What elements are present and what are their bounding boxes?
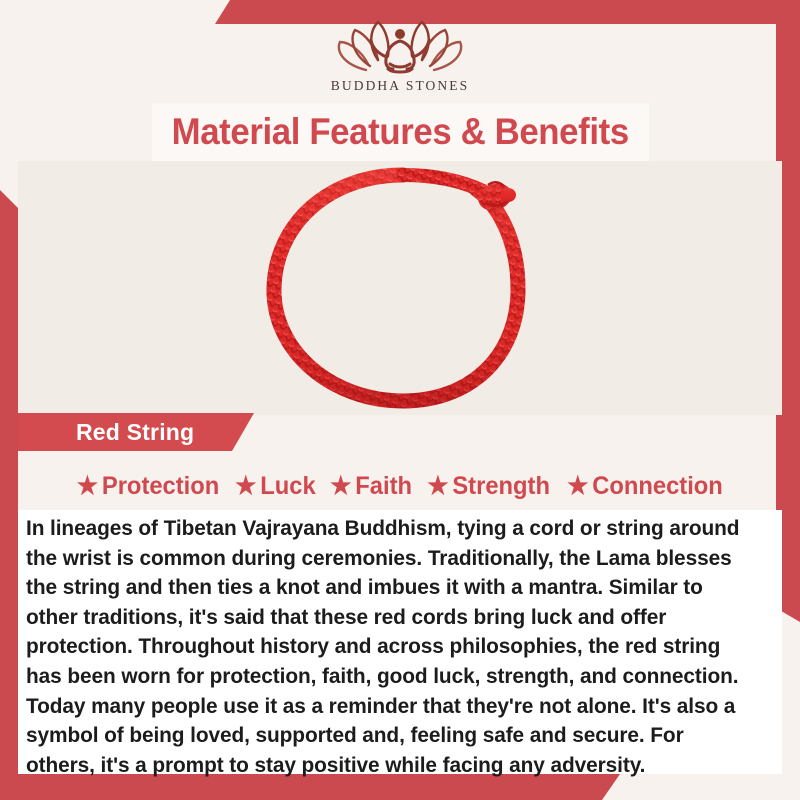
product-ribbon: Red String: [18, 413, 254, 451]
benefit-label: Connection: [592, 472, 723, 501]
star-icon: ★: [427, 474, 448, 499]
page-title: Material Features & Benefits: [172, 111, 629, 153]
star-icon: ★: [77, 474, 98, 499]
decor-band-left: [0, 190, 18, 800]
benefit-item-faith: ★ Faith: [326, 472, 415, 501]
star-icon: ★: [567, 474, 588, 499]
benefit-item-luck: ★ Luck: [231, 472, 319, 501]
star-icon: ★: [330, 474, 351, 499]
description-text: In lineages of Tibetan Vajrayana Buddhis…: [26, 514, 740, 780]
red-string-bracelet-image: [240, 163, 560, 413]
brand-name: BUDDHA STONES: [331, 78, 469, 94]
benefit-label: Strength: [452, 472, 550, 501]
infographic-card: BUDDHA STONES Material Features & Benefi…: [0, 0, 800, 800]
benefit-label: Protection: [102, 472, 219, 501]
description-panel: In lineages of Tibetan Vajrayana Buddhis…: [18, 510, 782, 774]
benefit-item-strength: ★ Strength: [423, 472, 553, 501]
benefit-item-connection: ★ Connection: [563, 472, 726, 501]
benefits-list: ★ Protection ★ Luck ★ Faith ★ Strength ★…: [18, 466, 782, 506]
star-icon: ★: [235, 474, 256, 499]
title-banner: Material Features & Benefits: [152, 103, 649, 161]
benefit-label: Luck: [260, 472, 315, 501]
product-image-stage: [18, 161, 782, 415]
benefit-item-protection: ★ Protection: [73, 472, 223, 501]
ribbon-label: Red String: [18, 419, 194, 446]
benefit-label: Faith: [355, 472, 412, 501]
brand-header: BUDDHA STONES: [0, 0, 800, 105]
lotus-meditation-icon: [326, 14, 474, 76]
